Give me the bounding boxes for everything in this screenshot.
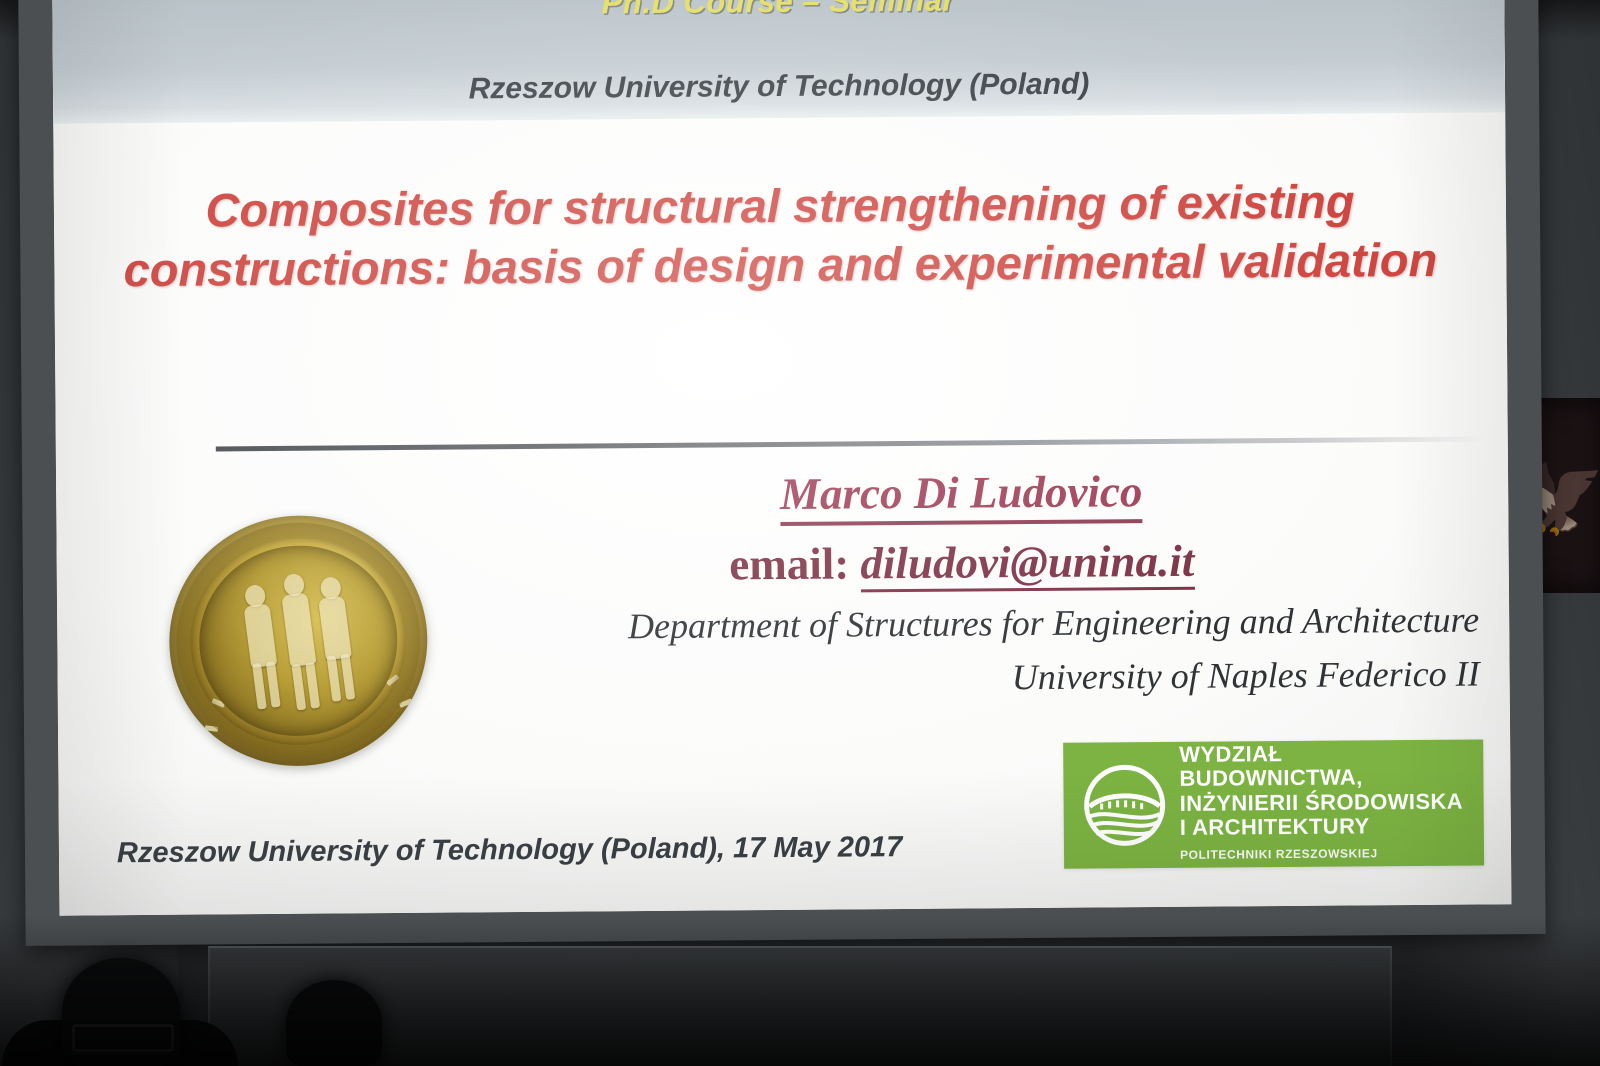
page-title: Composites for structural strengthening …: [114, 171, 1447, 299]
projection-screen-assembly: Ph.D Course – Seminar Rzeszow University…: [18, 0, 1545, 956]
university-seal-logo: [154, 500, 442, 781]
lecture-room-scene: 🦅 Ph.D Course – Seminar Rzeszow Universi…: [0, 0, 1600, 1066]
faculty-logo-line-2: BUDOWNICTWA,: [1179, 765, 1463, 792]
author-email-line: email: diludovi@unina.it: [457, 531, 1467, 595]
floor-shadow: [0, 916, 1600, 1066]
email-address: diludovi@unina.it: [860, 536, 1194, 593]
faculty-logo-line-1: WYDZIAŁ: [1179, 740, 1463, 767]
projection-screen-surface: Ph.D Course – Seminar Rzeszow University…: [52, 0, 1511, 916]
affiliation-department: Department of Structures for Engineering…: [457, 593, 1479, 655]
bridge-landscape-circle-icon: [1081, 762, 1168, 849]
faculty-logo: WYDZIAŁ BUDOWNICTWA, INŻYNIERII ŚRODOWIS…: [1063, 740, 1484, 869]
affiliation-block: Department of Structures for Engineering…: [457, 593, 1480, 709]
seal-rim: [162, 508, 435, 774]
faculty-logo-text: WYDZIAŁ BUDOWNICTWA, INŻYNIERII ŚRODOWIS…: [1179, 740, 1463, 867]
author-name: Marco Di Ludovico: [780, 465, 1143, 526]
title-divider: [216, 436, 1486, 451]
slide-footer: Rzeszow University of Technology (Poland…: [117, 831, 903, 870]
faculty-logo-subtitle: POLITECHNIKI RZESZOWSKIEJ: [1180, 840, 1464, 867]
faculty-logo-line-4: I ARCHITEKTURY: [1180, 814, 1464, 841]
email-prefix-label: email:: [729, 538, 849, 589]
faculty-logo-line-3: INŻYNIERII ŚRODOWISKA: [1180, 789, 1464, 816]
affiliation-university: University of Naples Federico II: [457, 647, 1479, 709]
presentation-slide: Ph.D Course – Seminar Rzeszow University…: [52, 0, 1511, 916]
author-block: Marco Di Ludovico email: diludovi@unina.…: [456, 463, 1467, 595]
